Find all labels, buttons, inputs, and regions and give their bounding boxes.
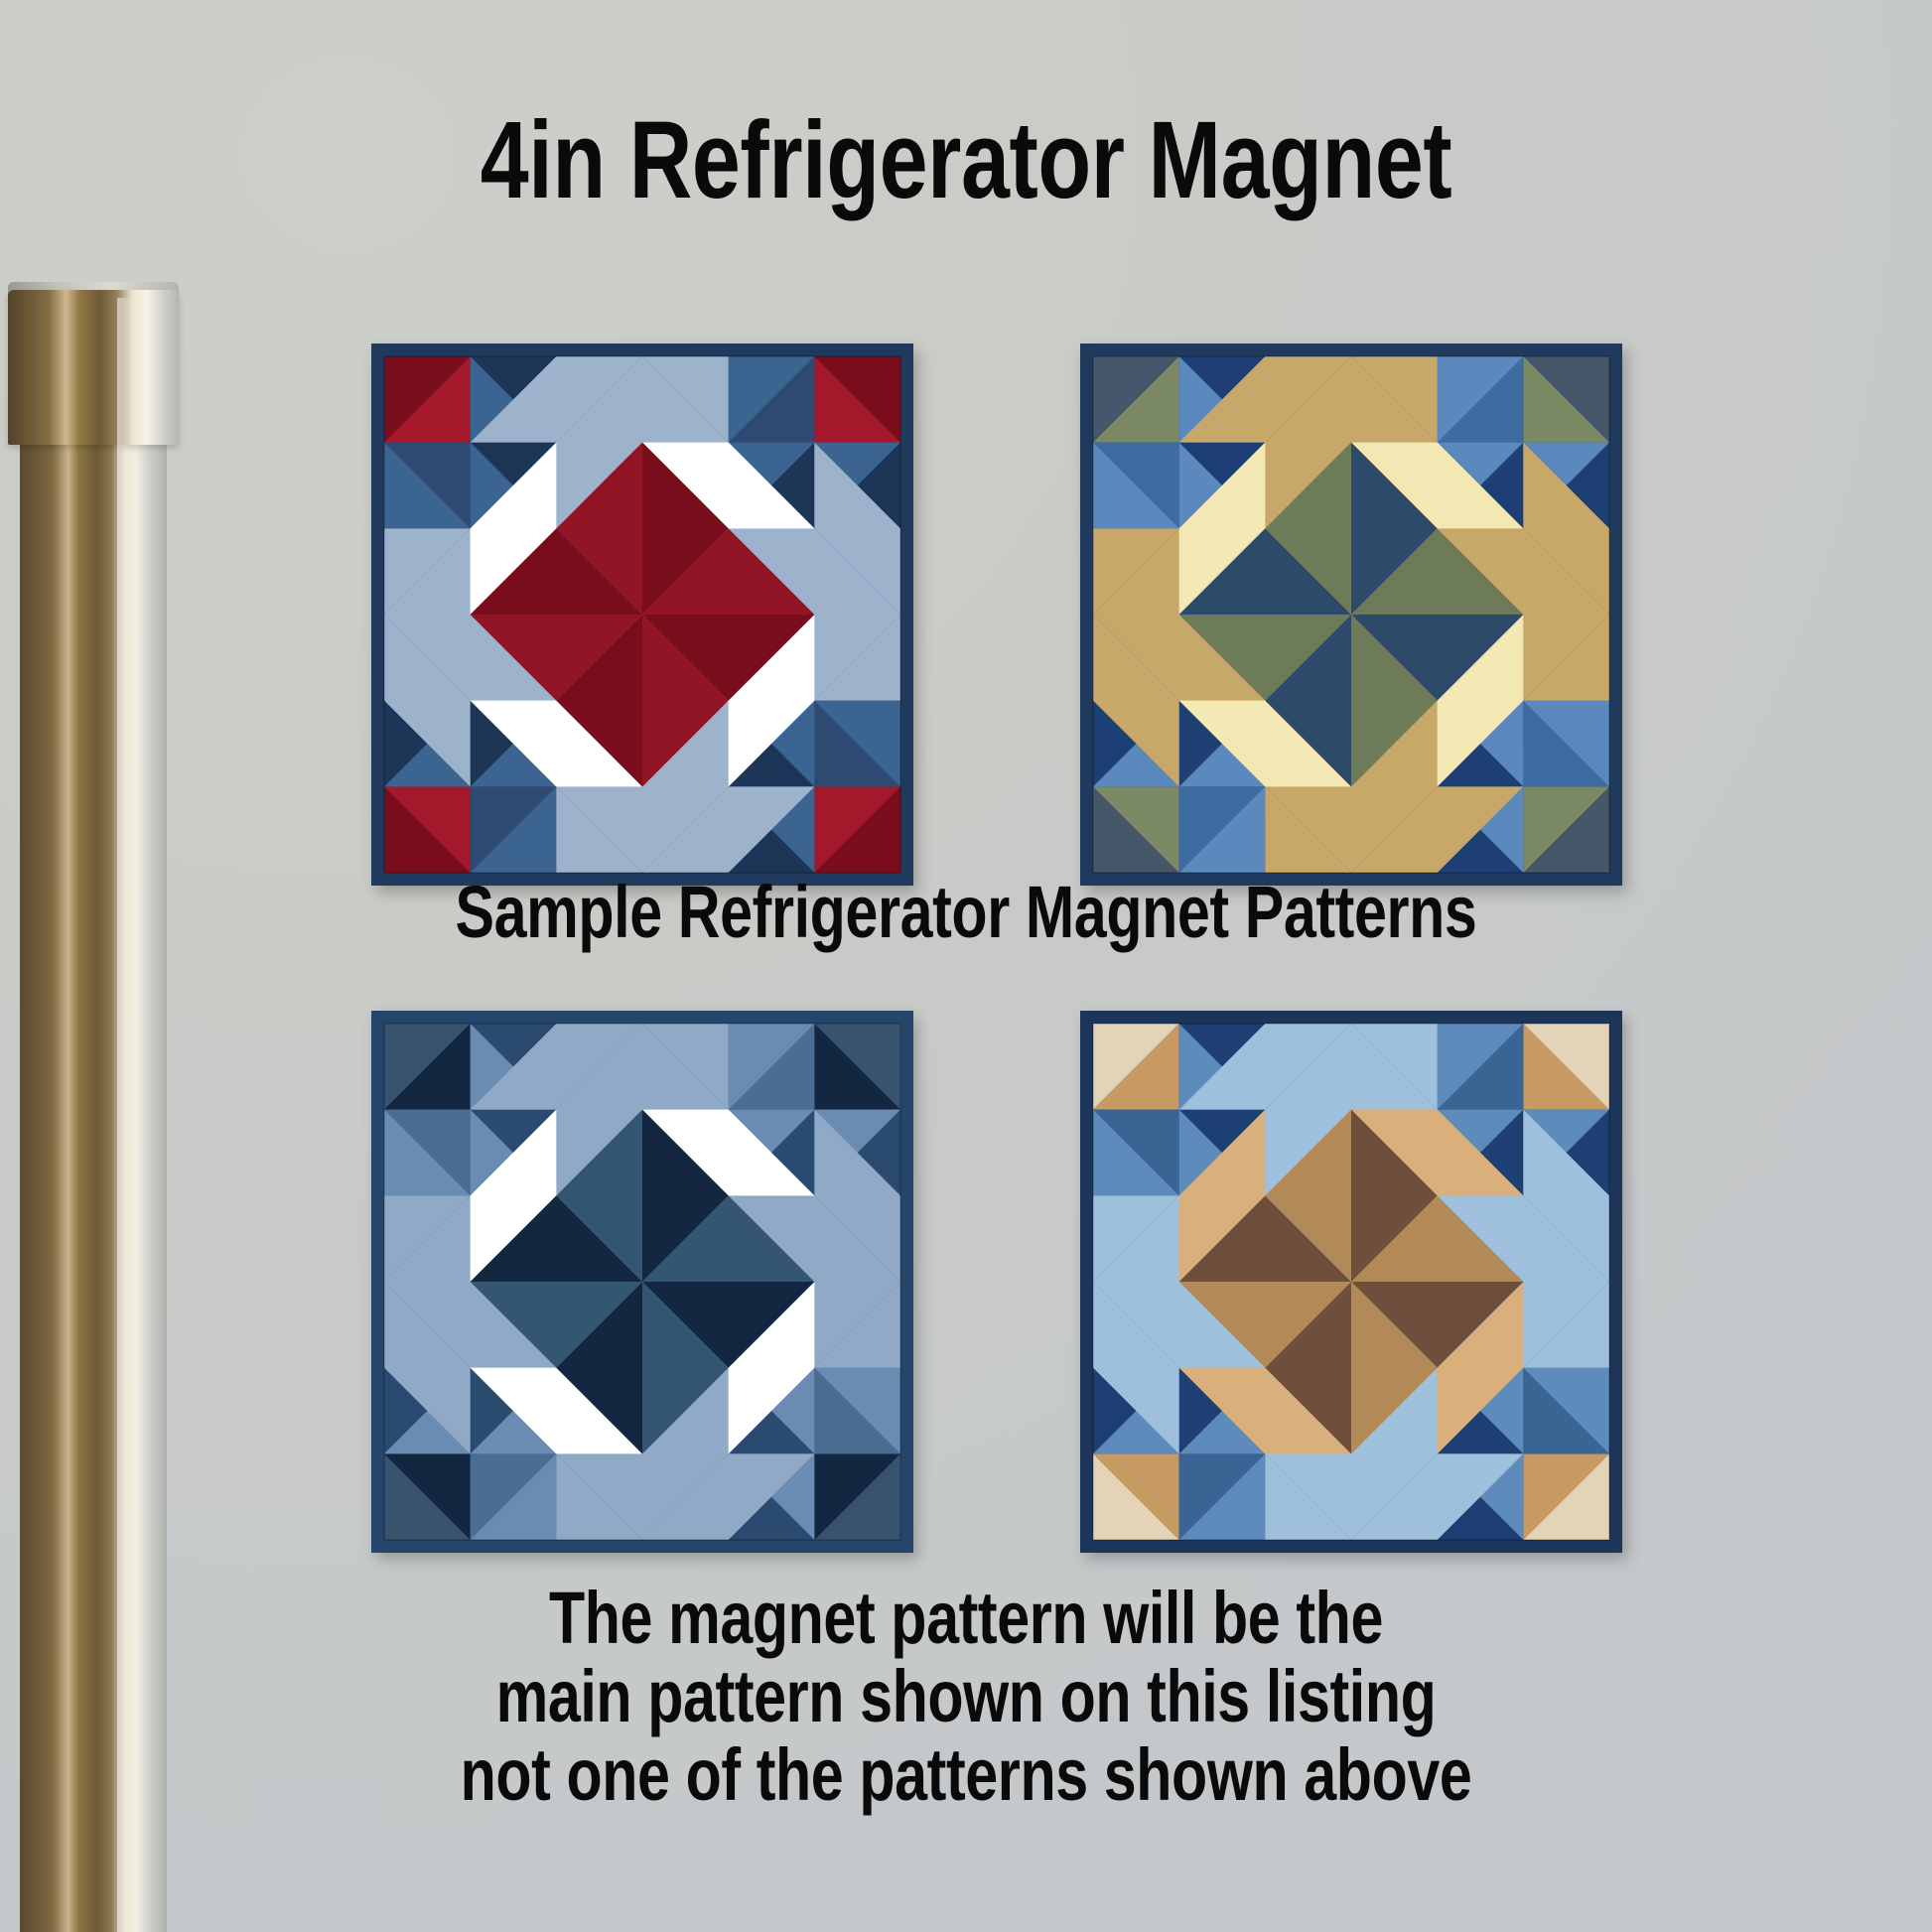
red-white-blue-carpenters-wheel xyxy=(371,344,913,886)
handle-cap xyxy=(8,290,179,445)
sample-patterns-caption: Sample Refrigerator Magnet Patterns xyxy=(194,874,1739,951)
handle-shaft xyxy=(20,298,167,1932)
quilt-block-red-white-blue xyxy=(371,344,913,886)
monochrome-blue-carpenters-wheel xyxy=(371,1011,913,1553)
disclaimer-line-2: main pattern shown on this listing xyxy=(194,1660,1739,1733)
brown-tan-blue-carpenters-wheel xyxy=(1080,1011,1622,1553)
disclaimer-line-3: not one of the patterns shown above xyxy=(194,1738,1739,1812)
disclaimer-line-1: The magnet pattern will be the xyxy=(194,1582,1739,1655)
product-image-canvas: 4in Refrigerator Magnet Sample Refrigera… xyxy=(0,0,1932,1932)
cream-gold-sage-carpenters-wheel xyxy=(1080,344,1622,886)
quilt-block-monochrome-blue xyxy=(371,1011,913,1553)
refrigerator-handle-rod xyxy=(0,0,199,1932)
quilt-block-brown-tan-blue xyxy=(1080,1011,1622,1553)
handle-gloss-highlight xyxy=(117,298,133,1932)
quilt-block-cream-gold-sage xyxy=(1080,344,1622,886)
page-title: 4in Refrigerator Magnet xyxy=(194,103,1739,218)
